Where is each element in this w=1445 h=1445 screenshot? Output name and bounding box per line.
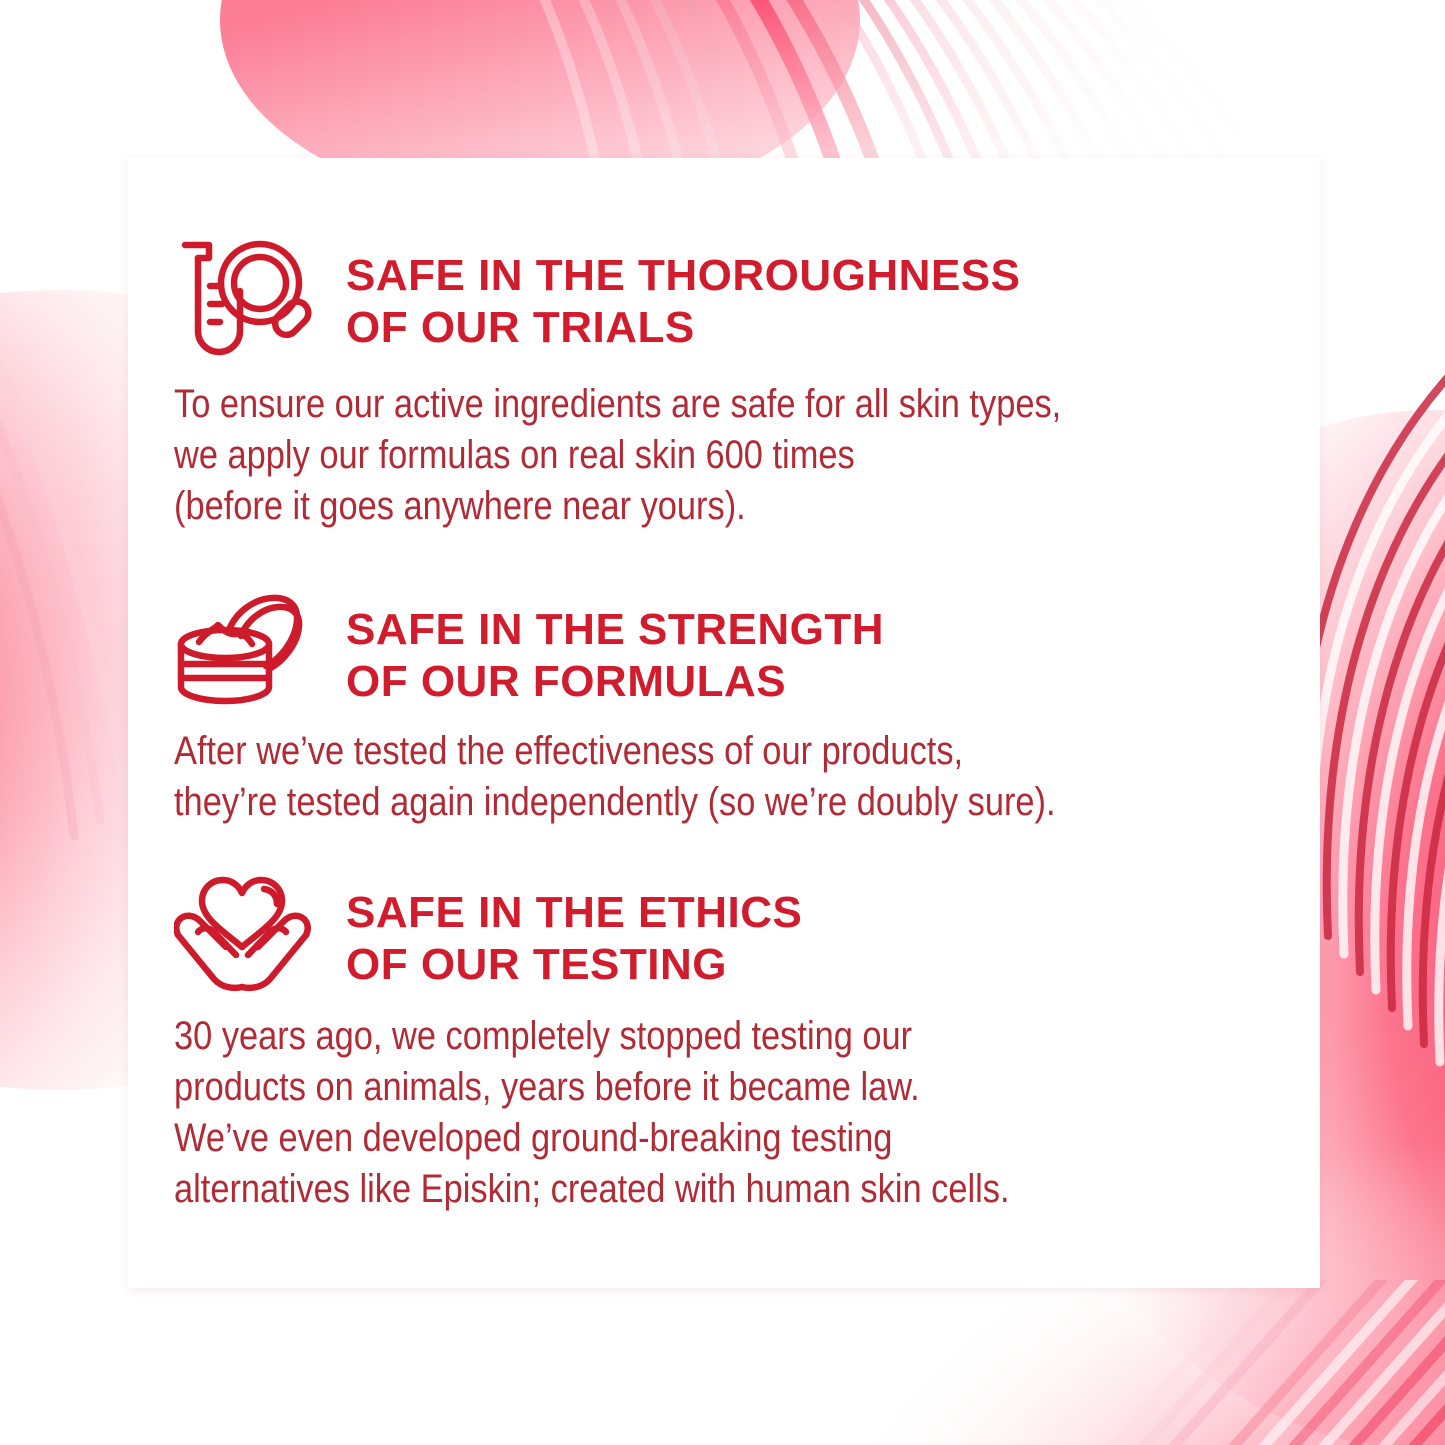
section-formulas: SAFE IN THE STRENGTH OF OUR FORMULAS Aft… xyxy=(174,590,1294,828)
section-trials: SAFE IN THE THOROUGHNESS OF OUR TRIALS T… xyxy=(174,236,1294,532)
test-tube-magnifier-icon xyxy=(174,236,346,363)
content-card: SAFE IN THE THOROUGHNESS OF OUR TRIALS T… xyxy=(128,158,1320,1288)
background-stripes-left xyxy=(0,0,135,1445)
section-ethics-body: 30 years ago, we completely stopped test… xyxy=(174,993,1291,1215)
section-ethics-header: SAFE IN THE ETHICS OF OUR TESTING xyxy=(174,873,1294,993)
section-ethics-heading: SAFE IN THE ETHICS OF OUR TESTING xyxy=(346,873,802,991)
section-formulas-heading: SAFE IN THE STRENGTH OF OUR FORMULAS xyxy=(346,590,884,708)
heart-in-hands-icon xyxy=(174,873,346,993)
section-trials-header: SAFE IN THE THOROUGHNESS OF OUR TRIALS xyxy=(174,236,1294,363)
section-trials-heading: SAFE IN THE THOROUGHNESS OF OUR TRIALS xyxy=(346,236,1021,354)
section-trials-body: To ensure our active ingredients are saf… xyxy=(174,363,1291,532)
section-formulas-header: SAFE IN THE STRENGTH OF OUR FORMULAS xyxy=(174,590,1294,712)
section-ethics: SAFE IN THE ETHICS OF OUR TESTING 30 yea… xyxy=(174,873,1294,1215)
section-formulas-body: After we’ve tested the effectiveness of … xyxy=(174,712,1291,828)
poster-canvas: SAFE IN THE THOROUGHNESS OF OUR TRIALS T… xyxy=(0,0,1445,1445)
cream-jar-icon xyxy=(174,590,346,712)
